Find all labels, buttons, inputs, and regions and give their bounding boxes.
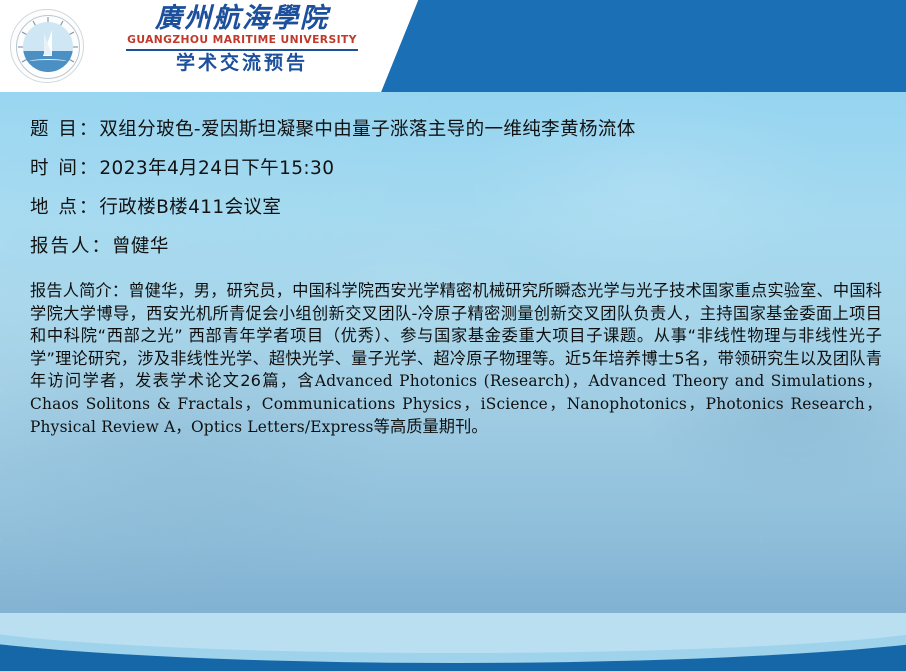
header-blue-wedge — [374, 0, 906, 92]
field-time-value: 2023年4月24日下午15:30 — [99, 158, 334, 179]
poster-header: 廣州航海學院 GUANGZHOU MARITIME UNIVERSITY 学术交… — [0, 0, 906, 92]
poster-body: 题 目：双组分玻色-爱因斯坦凝聚中由量子涨落主导的一维纯李黄杨流体 时 间：20… — [0, 92, 906, 613]
field-place-value: 行政楼B楼411会议室 — [99, 197, 281, 218]
brand-block: 廣州航海學院 GUANGZHOU MARITIME UNIVERSITY 学术交… — [92, 4, 392, 74]
bio-label: 报告人简介： — [30, 281, 128, 300]
brand-name-english: GUANGZHOU MARITIME UNIVERSITY — [89, 34, 395, 47]
seal-wave-line — [29, 59, 67, 64]
brand-divider — [126, 49, 358, 51]
field-time-label: 时 间： — [30, 158, 99, 179]
university-seal-sailboat-icon — [10, 9, 84, 83]
brand-name-chinese: 廣州航海學院 — [92, 4, 392, 34]
seminar-poster: 廣州航海學院 GUANGZHOU MARITIME UNIVERSITY 学术交… — [0, 0, 906, 671]
field-place-label: 地 点： — [30, 197, 99, 218]
field-title-label: 题 目： — [30, 119, 99, 140]
field-title-value: 双组分玻色-爱因斯坦凝聚中由量子涨落主导的一维纯李黄杨流体 — [99, 119, 635, 140]
seal-sail-shape-secondary — [44, 33, 52, 55]
field-title: 题 目：双组分玻色-爱因斯坦凝聚中由量子涨落主导的一维纯李黄杨流体 — [30, 110, 882, 149]
seal-inner-disc — [23, 22, 73, 72]
field-place: 地 点：行政楼B楼411会议室 — [30, 188, 882, 227]
brand-subtitle: 学术交流预告 — [92, 52, 392, 74]
field-speaker-value: 曾健华 — [112, 236, 169, 257]
poster-footer — [0, 613, 906, 671]
speaker-biography: 报告人简介：曾健华，男，研究员，中国科学院西安光学精密机械研究所瞬态光学与光子技… — [30, 280, 882, 438]
field-time: 时 间：2023年4月24日下午15:30 — [30, 149, 882, 188]
bio-text-part-2: 等高质量期刊。 — [374, 417, 488, 436]
field-speaker-label: 报告人： — [30, 236, 112, 257]
field-speaker: 报告人：曾健华 — [30, 227, 882, 266]
